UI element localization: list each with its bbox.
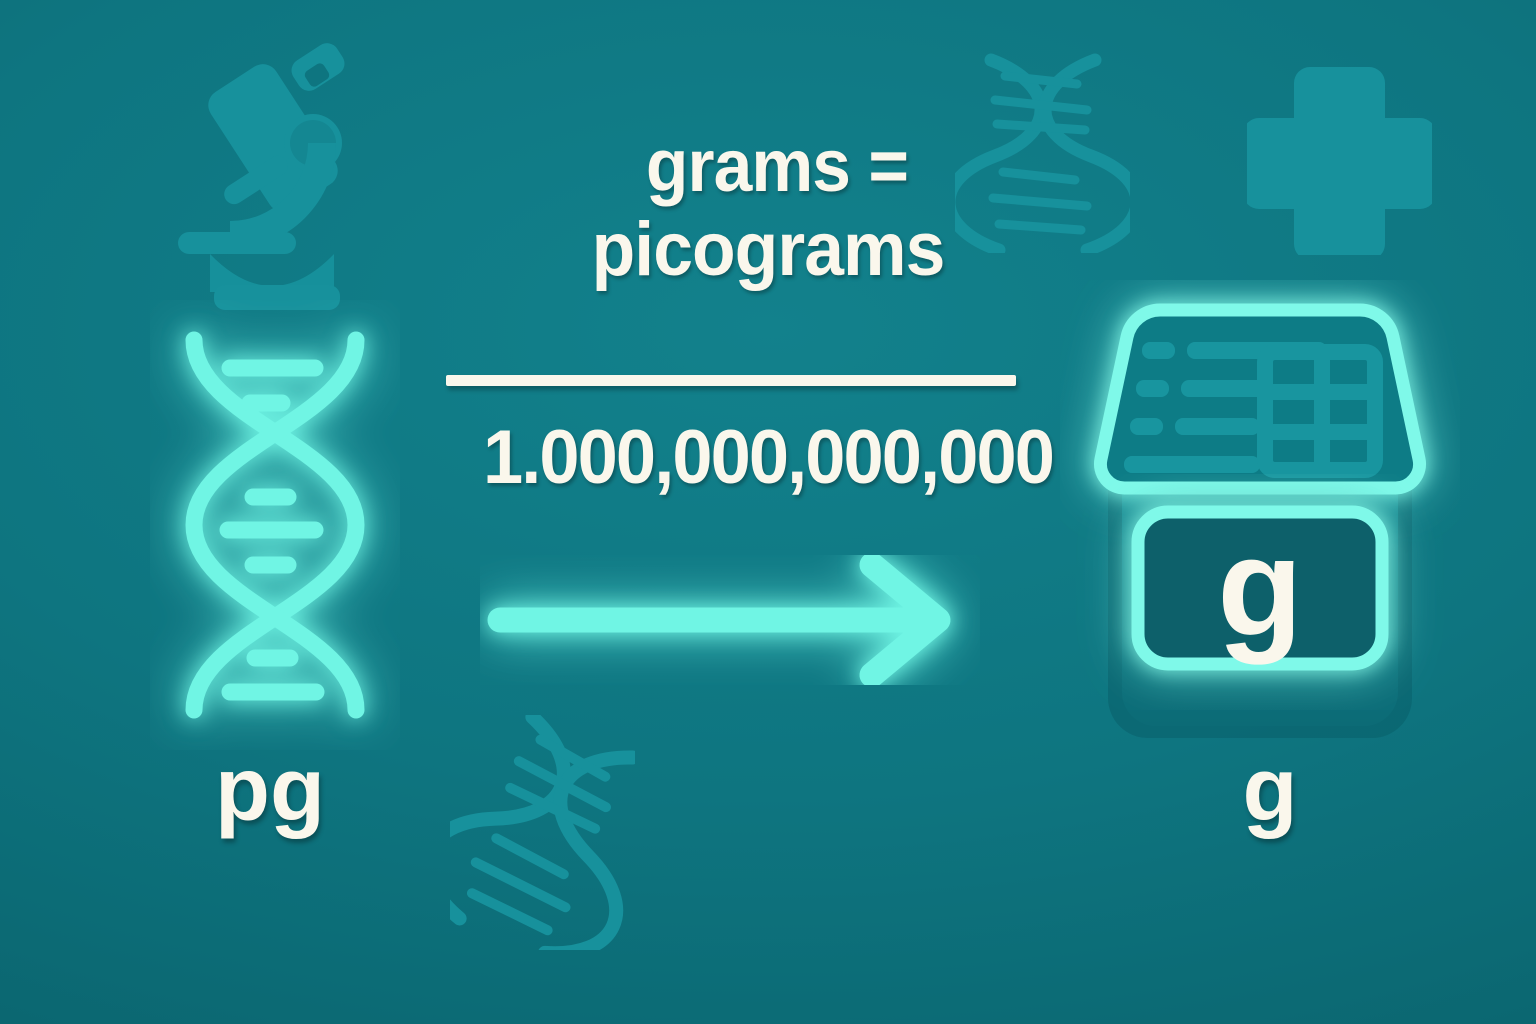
- conversion-formula: grams = picograms: [0, 130, 1536, 287]
- formula-numerator-line-1: grams =: [64, 130, 1491, 203]
- scale-display-value: g: [1217, 508, 1303, 665]
- target-unit-label: g: [1020, 745, 1520, 835]
- formula-numerator-line-2: picograms: [46, 213, 1490, 287]
- lab-scale-icon: g: [1060, 280, 1460, 780]
- dna-helix-icon: [150, 300, 400, 750]
- formula-denominator: 1.000,000,000,000: [38, 420, 1497, 496]
- right-arrow-icon: [480, 555, 980, 685]
- conversion-infographic: g grams = picograms 1.000,000,000,000 pg…: [0, 0, 1536, 1024]
- source-unit-label: pg: [0, 745, 540, 835]
- fraction-bar: [446, 375, 1016, 386]
